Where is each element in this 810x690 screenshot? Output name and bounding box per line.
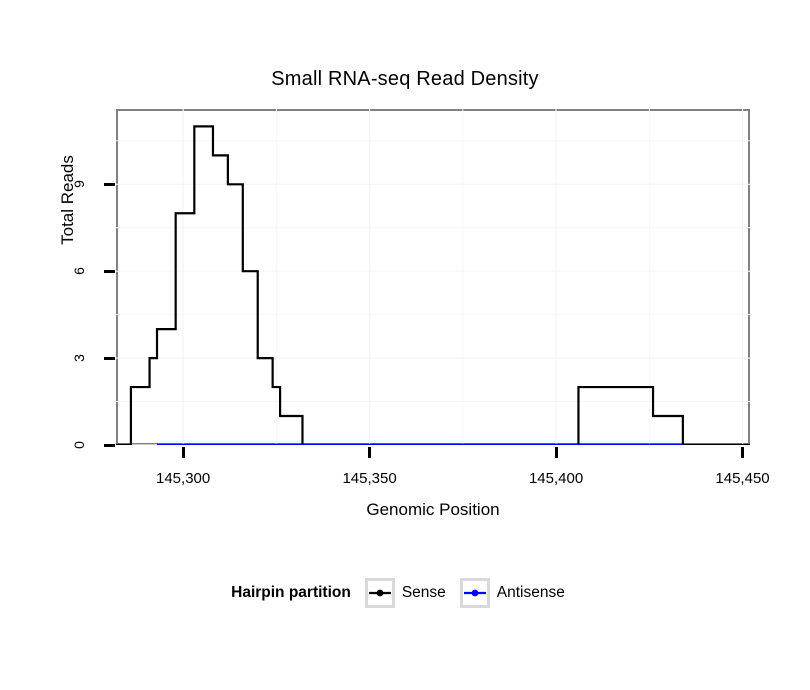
- legend-item-antisense[interactable]: Antisense: [460, 578, 565, 608]
- gridlines: [116, 109, 750, 445]
- x-tick-label: 145,450: [698, 470, 788, 487]
- x-tick-label: 145,300: [138, 470, 228, 487]
- legend-label-antisense: Antisense: [497, 584, 565, 602]
- legend-title: Hairpin partition: [231, 584, 351, 602]
- series-line-sense: [116, 126, 750, 445]
- y-tick-mark: [104, 270, 115, 273]
- x-tick-mark: [182, 447, 185, 458]
- x-tick-label: 145,400: [511, 470, 601, 487]
- legend: Hairpin partition Sense Antisense: [0, 578, 810, 608]
- plot-area: [116, 109, 750, 445]
- y-tick-label: 3: [71, 343, 87, 373]
- chart-title: Small RNA-seq Read Density: [0, 68, 810, 91]
- data-series-layer: [116, 126, 750, 445]
- y-tick-mark: [104, 183, 115, 186]
- y-tick-label: 6: [71, 256, 87, 286]
- x-axis-label: Genomic Position: [116, 500, 750, 520]
- x-tick-mark: [368, 447, 371, 458]
- legend-key-sense-icon: [365, 578, 395, 608]
- y-tick-label: 0: [71, 430, 87, 460]
- chart-figure: Small RNA-seq Read Density Total Reads 0…: [0, 0, 810, 690]
- x-tick-mark: [555, 447, 558, 458]
- y-tick-mark: [104, 444, 115, 447]
- legend-key-antisense-icon: [460, 578, 490, 608]
- x-tick-label: 145,350: [325, 470, 415, 487]
- y-tick-mark: [104, 357, 115, 360]
- legend-label-sense: Sense: [402, 584, 446, 602]
- x-tick-mark: [741, 447, 744, 458]
- y-tick-label: 9: [71, 169, 87, 199]
- legend-item-sense[interactable]: Sense: [365, 578, 446, 608]
